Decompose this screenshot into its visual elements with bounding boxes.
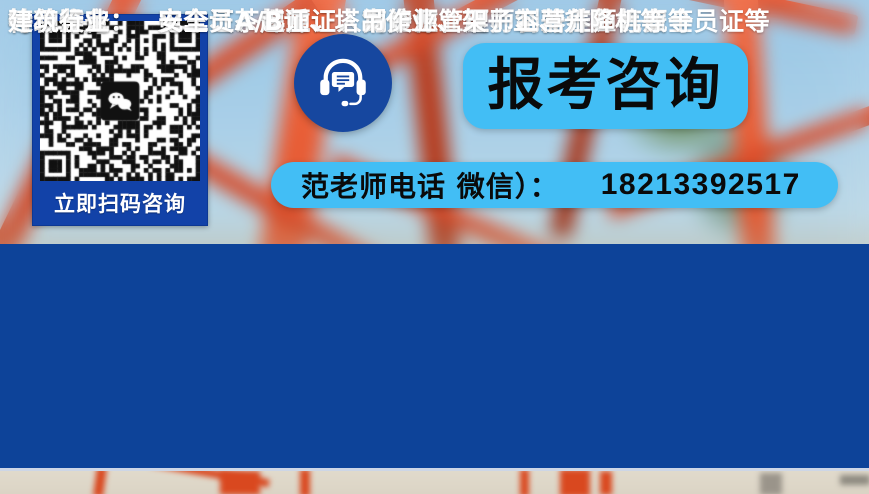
qr-code-canvas[interactable] [40, 21, 200, 181]
qr-panel[interactable]: 立即扫码咨询 [32, 14, 208, 226]
contact-phone-pill[interactable]: 范老师电话 微信）： 18213392517 [271, 162, 838, 208]
services-info-bar [0, 244, 869, 468]
service-items-value: 安全员A/B证、塔吊作业、架子工、升降机等 [158, 2, 666, 38]
qr-caption: 立即扫码咨询 [33, 185, 207, 221]
service-row: 建筑行业： 安全员A/B证、塔吊作业、架子工、升降机等 [8, 0, 666, 40]
contact-phone-number[interactable]: 18213392517 [601, 168, 801, 202]
bottom-photo-strip [0, 471, 869, 494]
qr-code-image[interactable] [40, 21, 200, 181]
consult-title-pill: 报考咨询 [463, 43, 748, 129]
service-category-label: 建筑行业： [8, 2, 158, 38]
contact-label: 范老师电话 微信）： [301, 165, 559, 205]
headset-support-icon [294, 34, 392, 132]
consult-title-label: 报考咨询 [488, 58, 724, 114]
promo-poster: 立即扫码咨询 报考咨询 范老师电话 微信）： 18213392517 特种作业：… [0, 0, 869, 494]
